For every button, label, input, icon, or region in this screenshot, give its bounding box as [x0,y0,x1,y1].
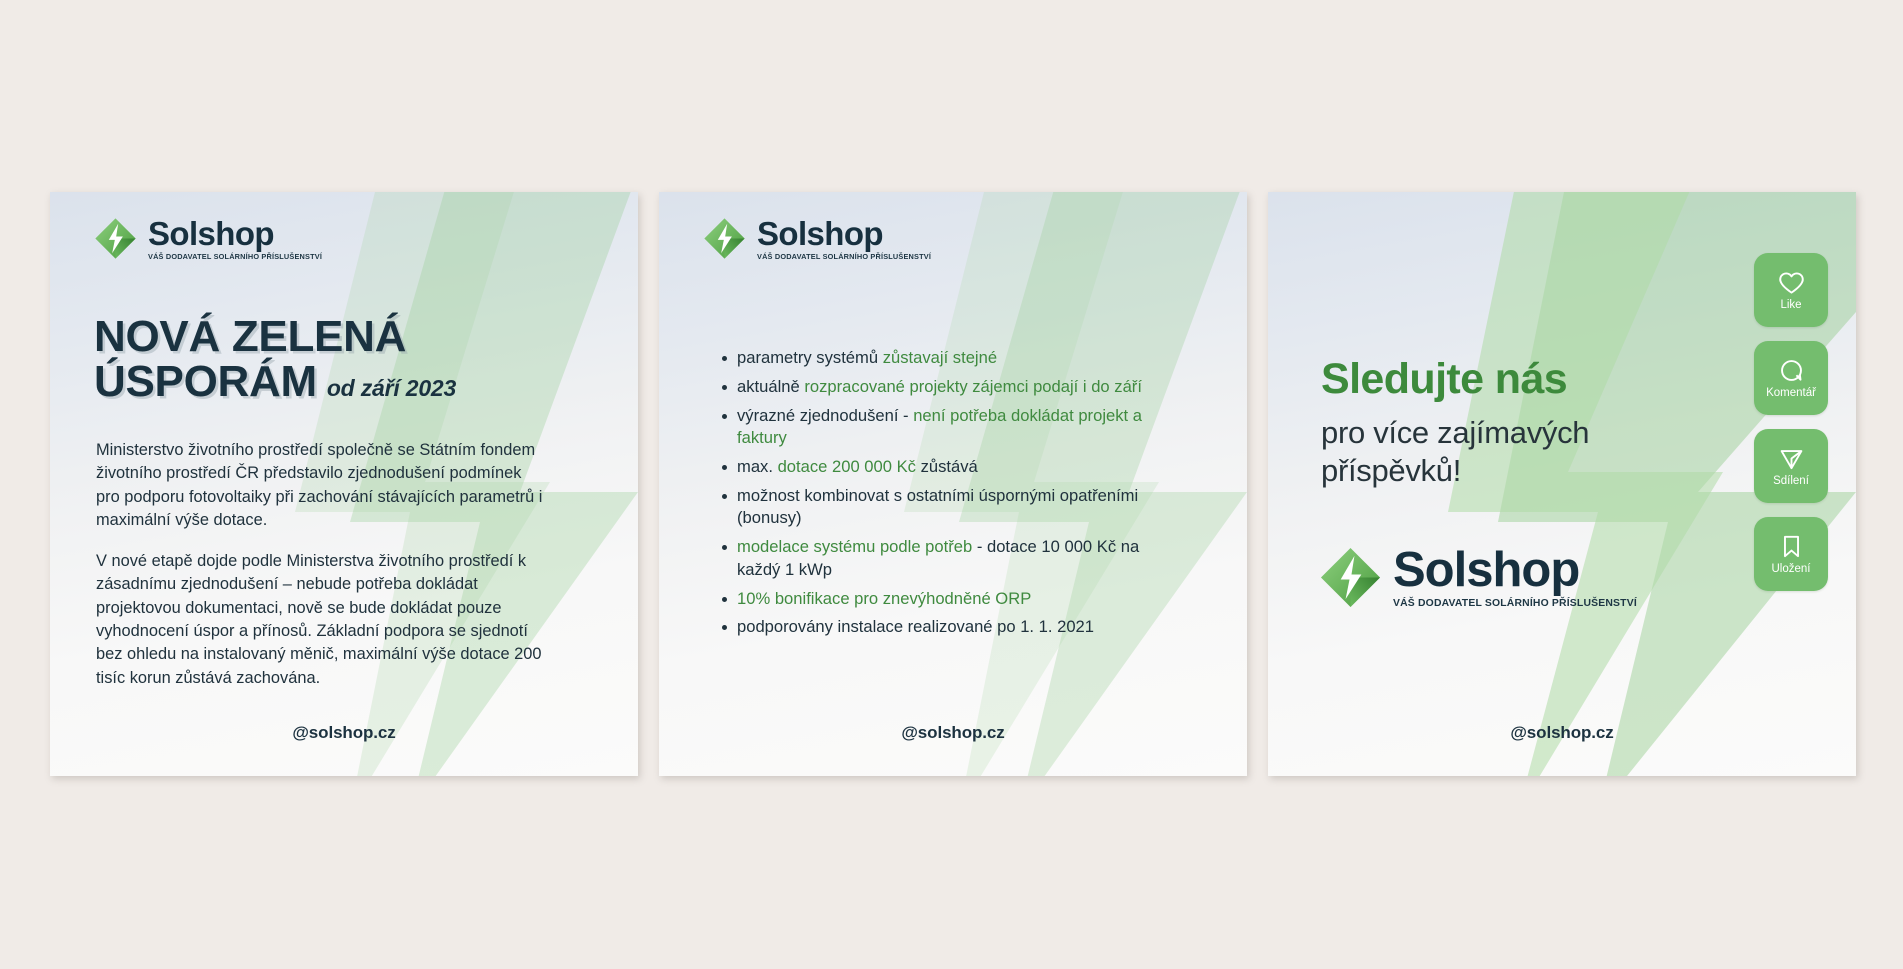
send-icon [1778,445,1805,472]
card1-body-copy: Ministerstvo životního prostředí společn… [96,439,548,690]
card1-handle: @solshop.cz [50,723,638,743]
poster-card-3: Sledujte nás pro více zajímavých příspěv… [1268,192,1856,776]
social-button-label: Uložení [1772,564,1811,576]
solshop-diamond-bolt-icon [1319,546,1382,609]
bullet-text-green: 10% bonifikace pro znevýhodněné ORP [737,589,1031,608]
follow-us-title: Sledujte nás [1321,357,1567,402]
logo-tagline: VÁŠ DODAVATEL SOLÁRNÍHO PŘÍSLUŠENSTVÍ [1393,599,1637,609]
bullet-text-dark: podporovány instalace realizované po 1. … [737,617,1094,636]
poster-card-1: Solshop VÁŠ DODAVATEL SOLÁRNÍHO PŘÍSLUŠE… [50,192,638,776]
social-button-ulo-en-[interactable]: Uložení [1754,517,1828,591]
bullet-text-dark: parametry systémů [737,348,883,367]
bullet-item: modelace systému podle potřeb - dotace 1… [737,536,1157,581]
title-line-1: NOVÁ ZELENÁ [94,312,406,361]
paragraph-2: V nové etapě dojde podle Ministerstva ži… [96,550,548,690]
bullet-text-dark: výrazné zjednodušení - [737,406,913,425]
card2-logo-header: Solshop VÁŠ DODAVATEL SOLÁRNÍHO PŘÍSLUŠE… [703,217,928,260]
bullet-item: podporovány instalace realizované po 1. … [737,616,1157,638]
title-suffix: od září 2023 [327,375,456,401]
bullet-text-dark: max. [737,457,778,476]
logo-wordmark: Solshop [757,217,928,250]
solshop-logo: Solshop VÁŠ DODAVATEL SOLÁRNÍHO PŘÍSLUŠE… [703,217,928,260]
bullet-item: možnost kombinovat s ostatními úspornými… [737,485,1157,530]
card2-handle: @solshop.cz [659,723,1247,743]
bullet-text-green: dotace 200 000 Kč [778,457,916,476]
bullet-item: parametry systémů zůstavají stejné [737,347,1157,369]
logo-wordmark: Solshop [148,217,319,250]
follow-us-subtitle: pro více zajímavých příspěvků! [1321,414,1651,490]
card1-title-block: NOVÁ ZELENÁ ÚSPORÁMod září 2023 [94,315,574,405]
benefits-bullet-list: parametry systémů zůstavají stejnéaktuál… [715,347,1157,645]
solshop-diamond-bolt-icon [703,217,746,260]
bullet-item: aktuálně rozpracované projekty zájemci p… [737,376,1157,398]
bullet-item: max. dotace 200 000 Kč zůstává [737,456,1157,478]
bullet-text-dark: možnost kombinovat s ostatními úspornými… [737,486,1138,527]
social-button-label: Like [1780,300,1801,312]
social-button-sd-len-[interactable]: Sdílení [1754,429,1828,503]
card1-logo-header: Solshop VÁŠ DODAVATEL SOLÁRNÍHO PŘÍSLUŠE… [94,217,319,260]
solshop-logo: Solshop VÁŠ DODAVATEL SOLÁRNÍHO PŘÍSLUŠE… [1319,546,1632,609]
logo-tagline: VÁŠ DODAVATEL SOLÁRNÍHO PŘÍSLUŠENSTVÍ [148,253,322,260]
bullet-text-dark: aktuálně [737,377,804,396]
page-title: NOVÁ ZELENÁ ÚSPORÁMod září 2023 [94,315,574,405]
title-line-2: ÚSPORÁM [94,357,317,406]
logo-tagline: VÁŠ DODAVATEL SOLÁRNÍHO PŘÍSLUŠENSTVÍ [757,253,931,260]
comment-icon [1778,357,1805,384]
social-button-label: Sdílení [1773,476,1809,488]
social-button-like[interactable]: Like [1754,253,1828,327]
heart-icon [1778,269,1805,296]
bullet-text-green: modelace systému podle potřeb [737,537,972,556]
bullet-text-dark: zůstává [916,457,978,476]
solshop-logo: Solshop VÁŠ DODAVATEL SOLÁRNÍHO PŘÍSLUŠE… [94,217,319,260]
social-button-koment-[interactable]: Komentář [1754,341,1828,415]
bullet-item: výrazné zjednodušení - není potřeba dokl… [737,405,1157,450]
paragraph-1: Ministerstvo životního prostředí společn… [96,439,548,532]
card3-brand-logo: Solshop VÁŠ DODAVATEL SOLÁRNÍHO PŘÍSLUŠE… [1319,546,1632,609]
solshop-diamond-bolt-icon [94,217,137,260]
bookmark-icon [1778,533,1805,560]
bullet-text-green: zůstavají stejné [883,348,997,367]
bullet-item: 10% bonifikace pro znevýhodněné ORP [737,588,1157,610]
poster-card-2: Solshop VÁŠ DODAVATEL SOLÁRNÍHO PŘÍSLUŠE… [659,192,1247,776]
card3-handle: @solshop.cz [1268,723,1856,743]
bullet-text-green: rozpracované projekty zájemci podají i d… [804,377,1142,396]
logo-wordmark: Solshop [1393,546,1632,595]
social-action-rail: LikeKomentářSdíleníUložení [1754,253,1828,591]
social-button-label: Komentář [1766,388,1816,400]
poster-gallery: Solshop VÁŠ DODAVATEL SOLÁRNÍHO PŘÍSLUŠE… [0,0,1903,969]
